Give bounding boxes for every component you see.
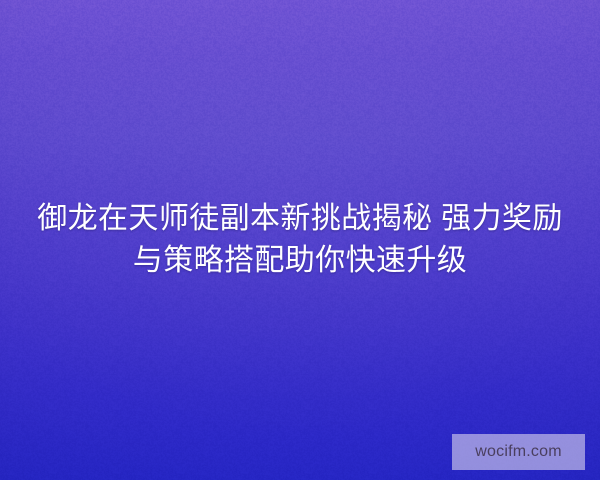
- title-card: 御龙在天师徒副本新挑战揭秘 强力奖励 与策略搭配助你快速升级 wocifm.co…: [0, 0, 600, 480]
- watermark-badge: wocifm.com: [452, 434, 585, 470]
- page-title: 御龙在天师徒副本新挑战揭秘 强力奖励 与策略搭配助你快速升级: [0, 198, 600, 282]
- watermark-label: wocifm.com: [475, 444, 561, 460]
